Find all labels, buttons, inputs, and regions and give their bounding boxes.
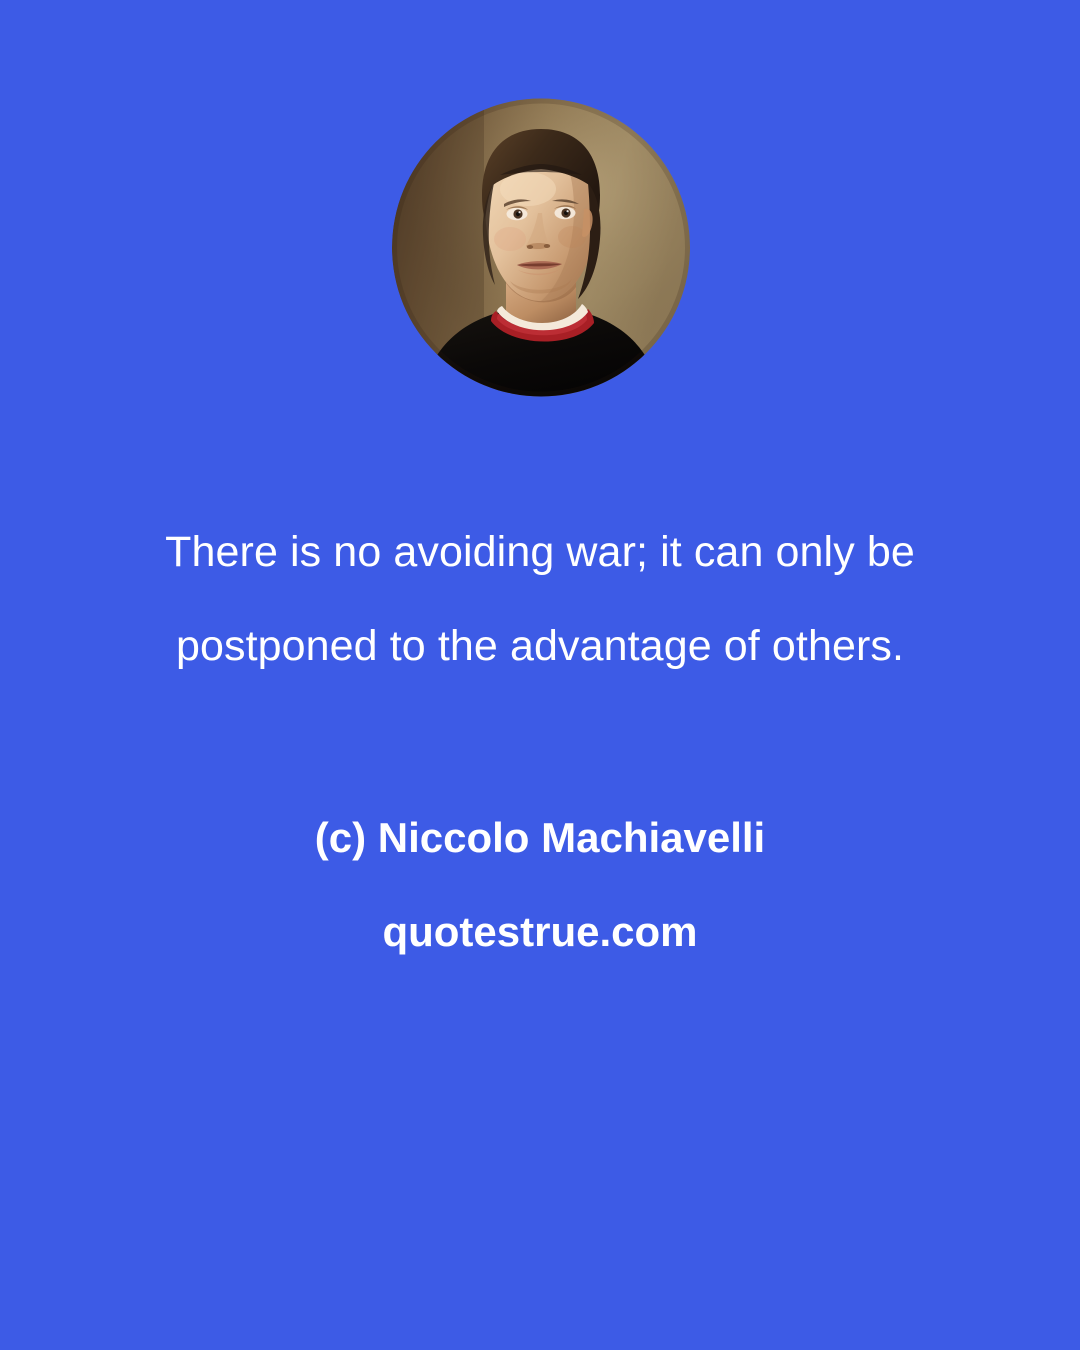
quote-attribution: (c) Niccolo Machiavelli: [90, 812, 990, 864]
portrait-container: [392, 97, 690, 398]
portrait-avatar: [392, 97, 690, 398]
quote-card: There is no avoiding war; it can only be…: [0, 0, 1080, 1350]
source-website: quotestrue.com: [90, 906, 990, 958]
quote-text: There is no avoiding war; it can only be…: [90, 505, 990, 693]
